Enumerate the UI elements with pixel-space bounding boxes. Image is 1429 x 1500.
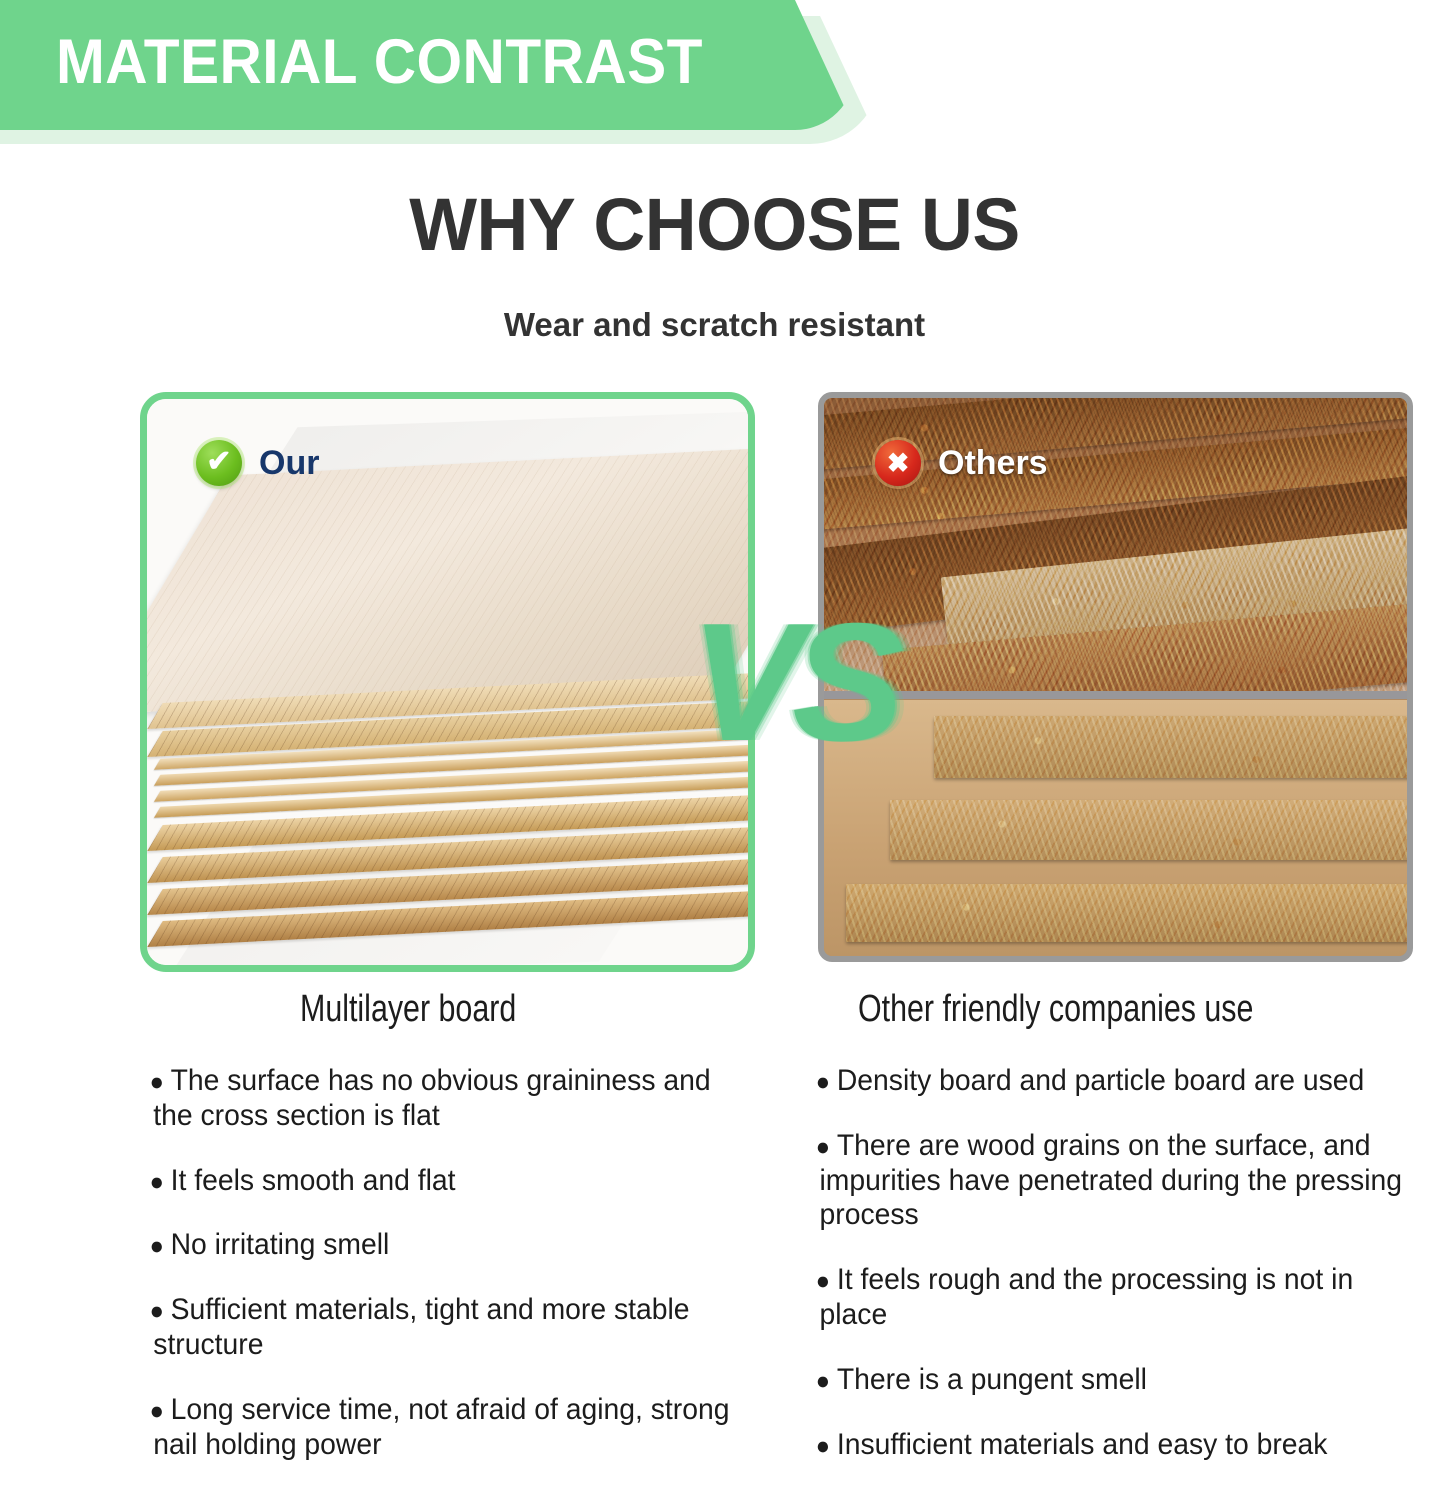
feature-bullet: ● Sufficient materials, tight and more s… (136, 1293, 750, 1363)
our-badge-label: Our (259, 446, 319, 480)
feature-bullet: ● The surface has no obvious graininess … (136, 1064, 750, 1134)
feature-bullet: ● It feels rough and the processing is n… (808, 1263, 1408, 1333)
particle-board-plank (846, 884, 1407, 942)
bullet-marker-icon: ● (816, 1068, 837, 1096)
feature-bullet: ● There is a pungent smell (808, 1363, 1408, 1398)
others-badge: ✖ Others (875, 440, 1048, 486)
banner-title: MATERIAL CONTRAST (56, 31, 703, 100)
our-feature-list: ● The surface has no obvious graininess … (136, 1064, 776, 1492)
particle-board-plank (941, 519, 1407, 667)
vs-icon: VS (690, 598, 890, 778)
bullet-marker-icon: ● (816, 1133, 837, 1161)
bullet-marker-icon: ● (149, 1297, 170, 1325)
right-panel-caption: Other friendly companies use (858, 990, 1253, 1028)
x-glyph: ✖ (887, 450, 910, 477)
feature-bullet: ● Density board and particle board are u… (808, 1064, 1408, 1099)
feature-bullet-text: There is a pungent smell (837, 1363, 1147, 1396)
particle-board-plank (824, 465, 1407, 641)
bullet-marker-icon: ● (149, 1168, 170, 1196)
check-glyph: ✔ (206, 447, 231, 477)
feature-bullet: ● It feels smooth and flat (136, 1164, 750, 1199)
feature-bullet-text: Long service time, not afraid of aging, … (153, 1393, 729, 1461)
feature-bullet-text: No irritating smell (171, 1228, 390, 1261)
feature-bullet: ● Long service time, not afraid of aging… (136, 1393, 750, 1463)
others-badge-label: Others (938, 446, 1048, 480)
particle-board-plank (882, 594, 1407, 694)
feature-bullet-text: The surface has no obvious graininess an… (153, 1064, 710, 1132)
bullet-marker-icon: ● (816, 1367, 837, 1395)
x-circle-icon: ✖ (875, 440, 921, 486)
material-contrast-infographic: MATERIAL CONTRAST WHY CHOOSE US Wear and… (0, 0, 1429, 1500)
right-photo-bottom (824, 700, 1407, 962)
particle-board-plank (934, 716, 1407, 778)
feature-bullet-text: It feels smooth and flat (171, 1164, 456, 1197)
check-circle-icon: ✔ (196, 440, 242, 486)
others-feature-list: ● Density board and particle board are u… (808, 1064, 1429, 1492)
bullet-marker-icon: ● (816, 1267, 837, 1295)
feature-bullet-text: It feels rough and the processing is not… (820, 1263, 1354, 1331)
feature-bullet: ● There are wood grains on the surface, … (808, 1129, 1408, 1233)
feature-bullet-text: Insufficient materials and easy to break (837, 1428, 1328, 1461)
header-banner: MATERIAL CONTRAST (0, 0, 900, 160)
particle-board-plank (890, 800, 1407, 860)
bullet-marker-icon: ● (149, 1232, 170, 1260)
feature-bullet-text: Sufficient materials, tight and more sta… (153, 1293, 689, 1361)
left-panel-caption: Multilayer board (300, 990, 516, 1028)
page-title: WHY CHOOSE US (21, 188, 1407, 262)
feature-bullet-text: There are wood grains on the surface, an… (820, 1129, 1402, 1232)
bullet-marker-icon: ● (816, 1432, 837, 1460)
feature-bullet: ● Insufficient materials and easy to bre… (808, 1428, 1408, 1463)
photo-divider (824, 691, 1407, 699)
feature-bullet-text: Density board and particle board are use… (837, 1064, 1364, 1097)
feature-bullet: ● No irritating smell (136, 1228, 750, 1263)
banner-body: MATERIAL CONTRAST (0, 0, 855, 130)
bullet-marker-icon: ● (149, 1397, 170, 1425)
bullet-marker-icon: ● (149, 1068, 170, 1096)
our-badge: ✔ Our (196, 440, 319, 486)
page-subtitle: Wear and scratch resistant (0, 308, 1429, 341)
